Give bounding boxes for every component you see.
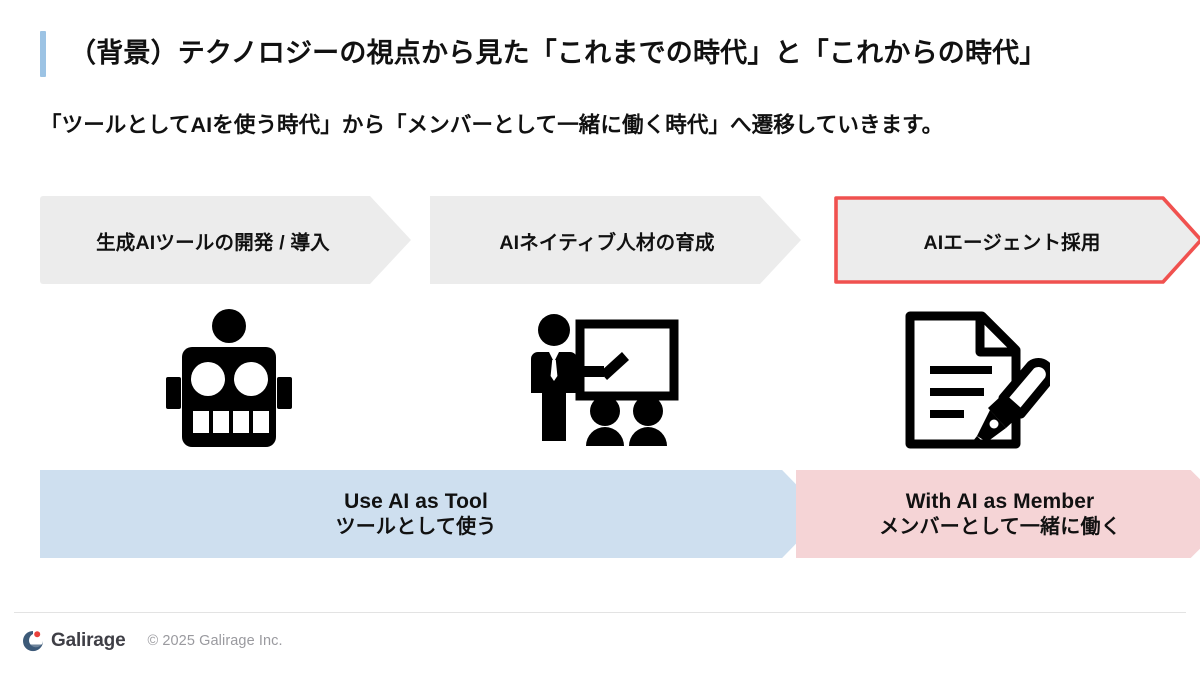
document-pen-icon <box>885 300 1067 460</box>
outcome-banner-right-shape <box>796 470 1200 558</box>
phase-chevron-2-shape <box>430 196 802 284</box>
footer-copyright: © 2025 Galirage Inc. <box>147 633 282 649</box>
galirage-logo-icon <box>22 630 44 652</box>
footer-brand-name: Galirage <box>51 630 125 652</box>
footer-divider <box>14 612 1186 613</box>
phase-chevron-row: 生成AIツールの開発 / 導入 AIネイティブ人材の育成 AIエージェント採用 <box>40 196 1164 284</box>
robot-icon <box>143 300 315 460</box>
phase-chevron-3-shape <box>834 196 1200 284</box>
title-text: （背景）テクノロジーの視点から見た「これまでの時代」と「これからの時代」 <box>69 39 1047 69</box>
outcome-banner-left-shape <box>40 470 826 558</box>
phase-chevron-2[interactable]: AIネイティブ人材の育成 <box>430 196 802 284</box>
outcome-banner-with-ai-as-member[interactable]: With AI as Member メンバーとして一緒に働く <box>796 470 1200 558</box>
phase-chevron-1[interactable]: 生成AIツールの開発 / 導入 <box>40 196 412 284</box>
page-title: （背景）テクノロジーの視点から見た「これまでの時代」と「これからの時代」 <box>40 30 1047 78</box>
phase-chevron-3[interactable]: AIエージェント採用 <box>834 196 1200 284</box>
icon-row <box>0 300 1200 460</box>
footer: Galirage © 2025 Galirage Inc. <box>22 628 283 654</box>
presenter-whiteboard-icon <box>505 300 695 460</box>
phase-chevron-1-shape <box>40 196 412 284</box>
outcome-banner-row: Use AI as Tool ツールとして使う With AI as Membe… <box>40 470 1164 558</box>
outcome-banner-use-ai-as-tool[interactable]: Use AI as Tool ツールとして使う <box>40 470 826 558</box>
title-accent-bar <box>40 31 46 77</box>
subtitle-text: 「ツールとしてAIを使う時代」から「メンバーとして一緒に働く時代」へ遷移していき… <box>40 108 943 139</box>
